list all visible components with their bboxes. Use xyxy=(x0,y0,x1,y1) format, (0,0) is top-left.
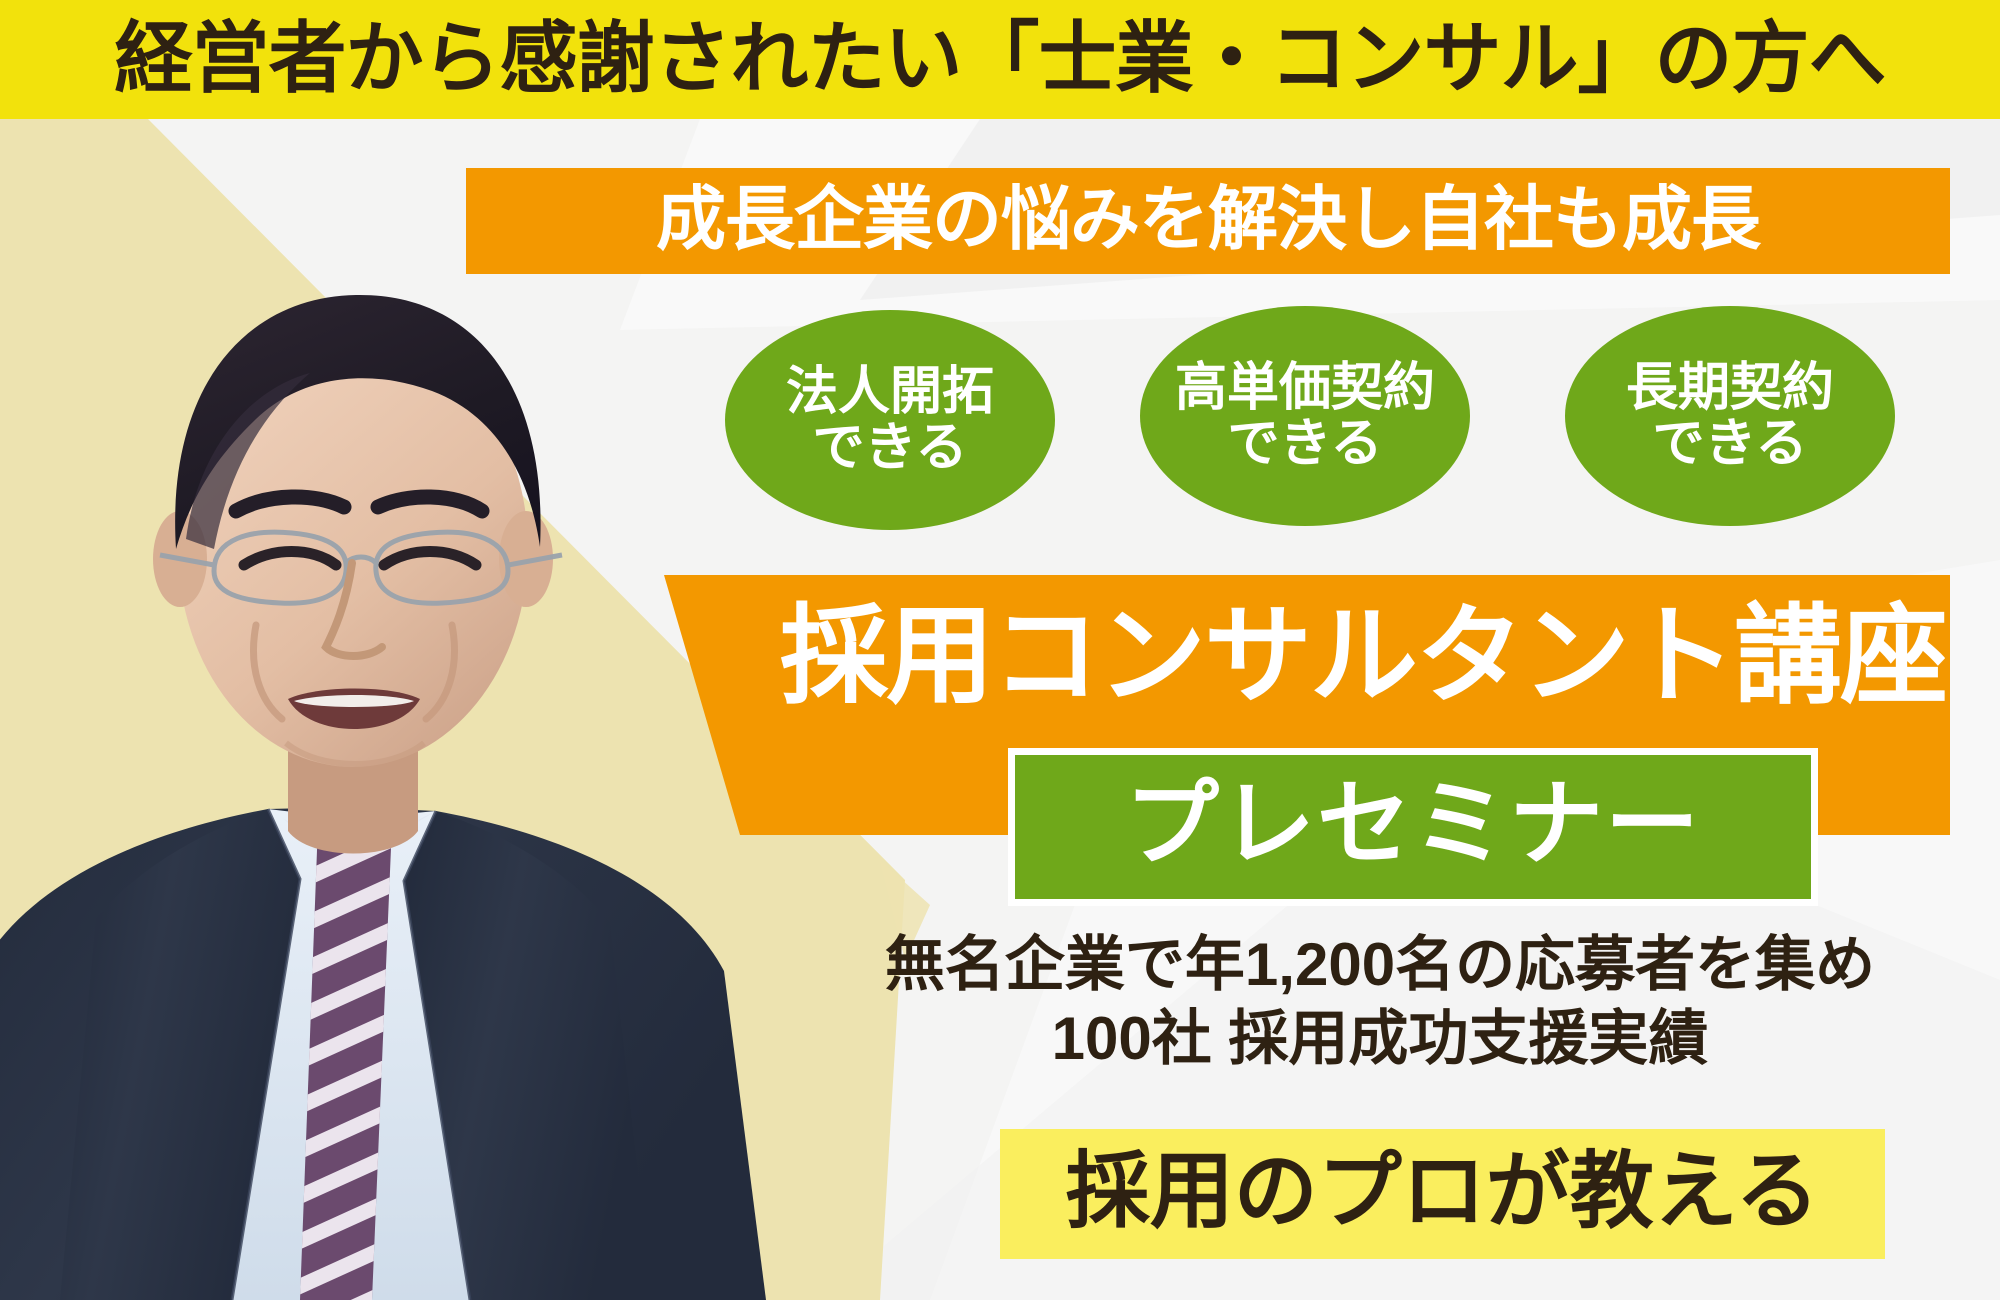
course-title-text: 採用コンサルタント講座 xyxy=(780,602,1946,710)
tagline-text: 採用のプロが教える xyxy=(1066,1149,1819,1233)
top-headline-text: 経営者から感謝されたい「士業・コンサル」の方へ xyxy=(114,19,1885,97)
tagline-highlight: 採用のプロが教える xyxy=(1000,1129,1885,1259)
benefit-badge-line1: 高単価契約 xyxy=(1175,360,1435,416)
benefit-badge-high-unit-price-contract: 高単価契約 できる xyxy=(1140,306,1470,526)
benefit-badge-line2: できる xyxy=(1228,416,1383,472)
flyer-canvas: 経営者から感謝されたい「士業・コンサル」の方へ 成長企業の悩みを解決し自社も成長… xyxy=(0,0,2000,1300)
credentials-line-2: 100社 採用成功支援実績 xyxy=(760,1004,2000,1074)
subheadline-text: 成長企業の悩みを解決し自社も成長 xyxy=(656,184,1760,254)
benefit-badge-line1: 法人開拓 xyxy=(786,364,994,420)
subheadline-banner: 成長企業の悩みを解決し自社も成長 xyxy=(466,168,1950,274)
top-headline-banner: 経営者から感謝されたい「士業・コンサル」の方へ xyxy=(0,0,2000,119)
credentials-block: 無名企業で年1,200名の応募者を集め 100社 採用成功支援実績 xyxy=(760,930,2000,1073)
benefit-badge-line2: できる xyxy=(1653,416,1808,472)
benefit-badge-long-term-contract: 長期契約 できる xyxy=(1565,306,1895,526)
preseminar-badge: プレセミナー xyxy=(1008,748,1818,906)
benefit-badge-line2: できる xyxy=(813,420,968,476)
benefit-badge-line1: 長期契約 xyxy=(1626,360,1834,416)
benefit-badge-corporate-development: 法人開拓 できる xyxy=(725,310,1055,530)
credentials-line-1: 無名企業で年1,200名の応募者を集め xyxy=(760,930,2000,1000)
preseminar-label: プレセミナー xyxy=(1125,777,1701,871)
course-title-wrap: 採用コンサルタント講座 xyxy=(700,588,1950,723)
